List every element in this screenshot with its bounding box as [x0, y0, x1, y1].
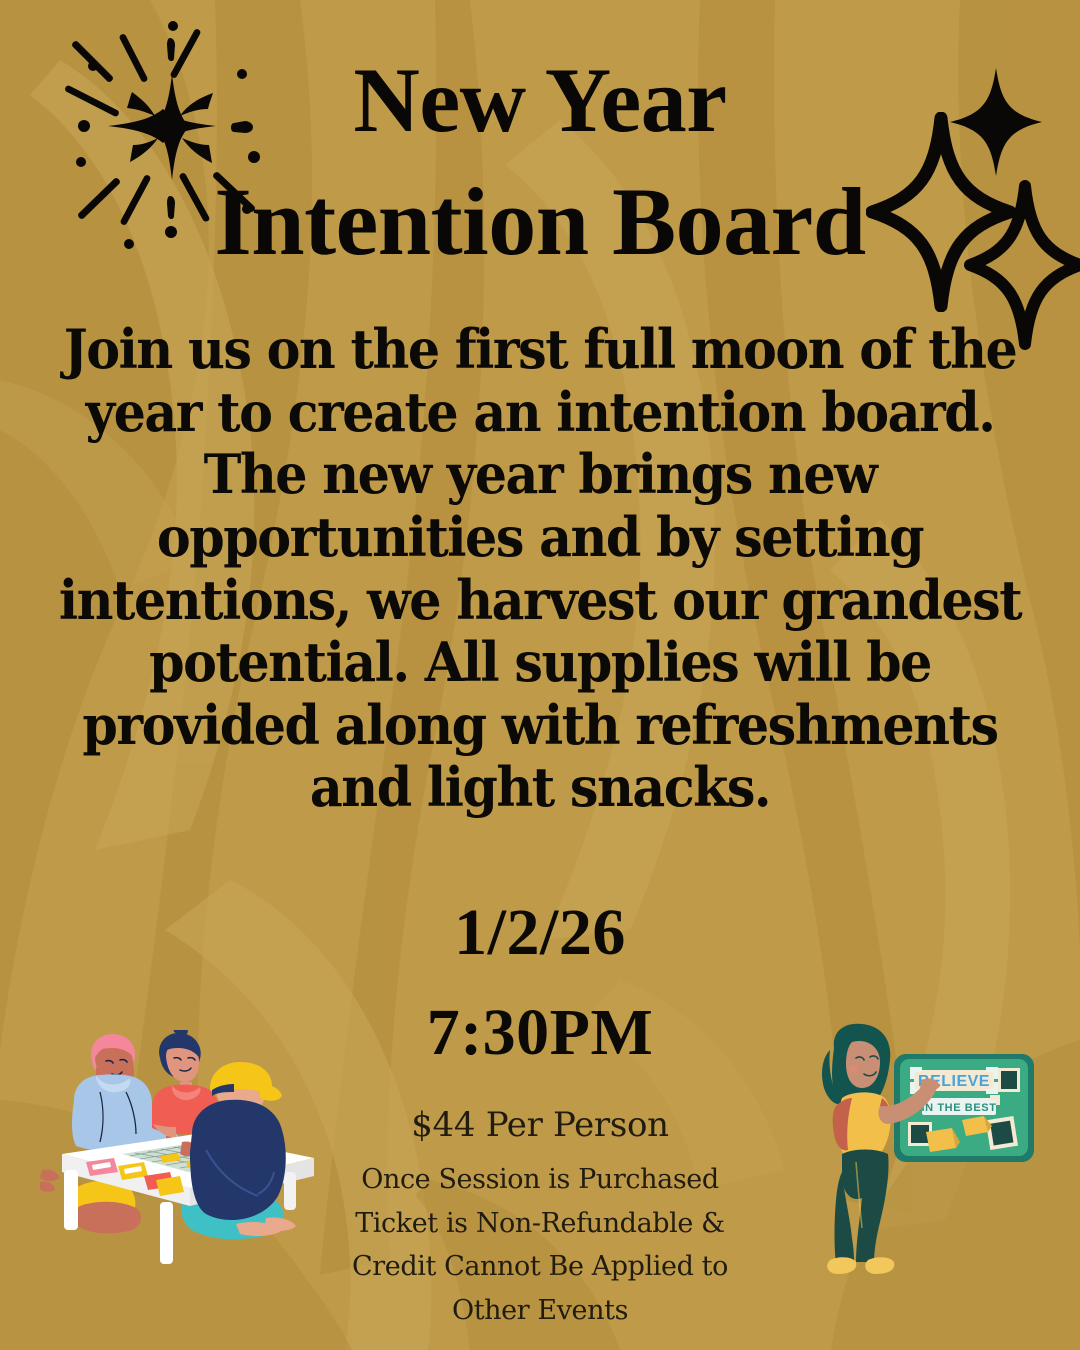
vision-board-secondary-text: IN THE BEST	[921, 1102, 996, 1114]
woman-with-vision-board-illustration: BELIEVE IN THE BEST	[812, 1022, 1062, 1284]
page-title-line-1: New Year	[0, 54, 1080, 146]
event-description: Join us on the first full moon of the ye…	[49, 318, 1030, 819]
refund-policy-text: Once Session is Purchased Ticket is Non-…	[330, 1158, 750, 1333]
page-title-line-2: Intention Board	[0, 174, 1080, 270]
people-playing-board-game-illustration	[40, 1030, 340, 1290]
flyer-canvas: New Year Intention Board Join us on the …	[0, 0, 1080, 1350]
event-date: 1/2/26	[0, 900, 1080, 966]
